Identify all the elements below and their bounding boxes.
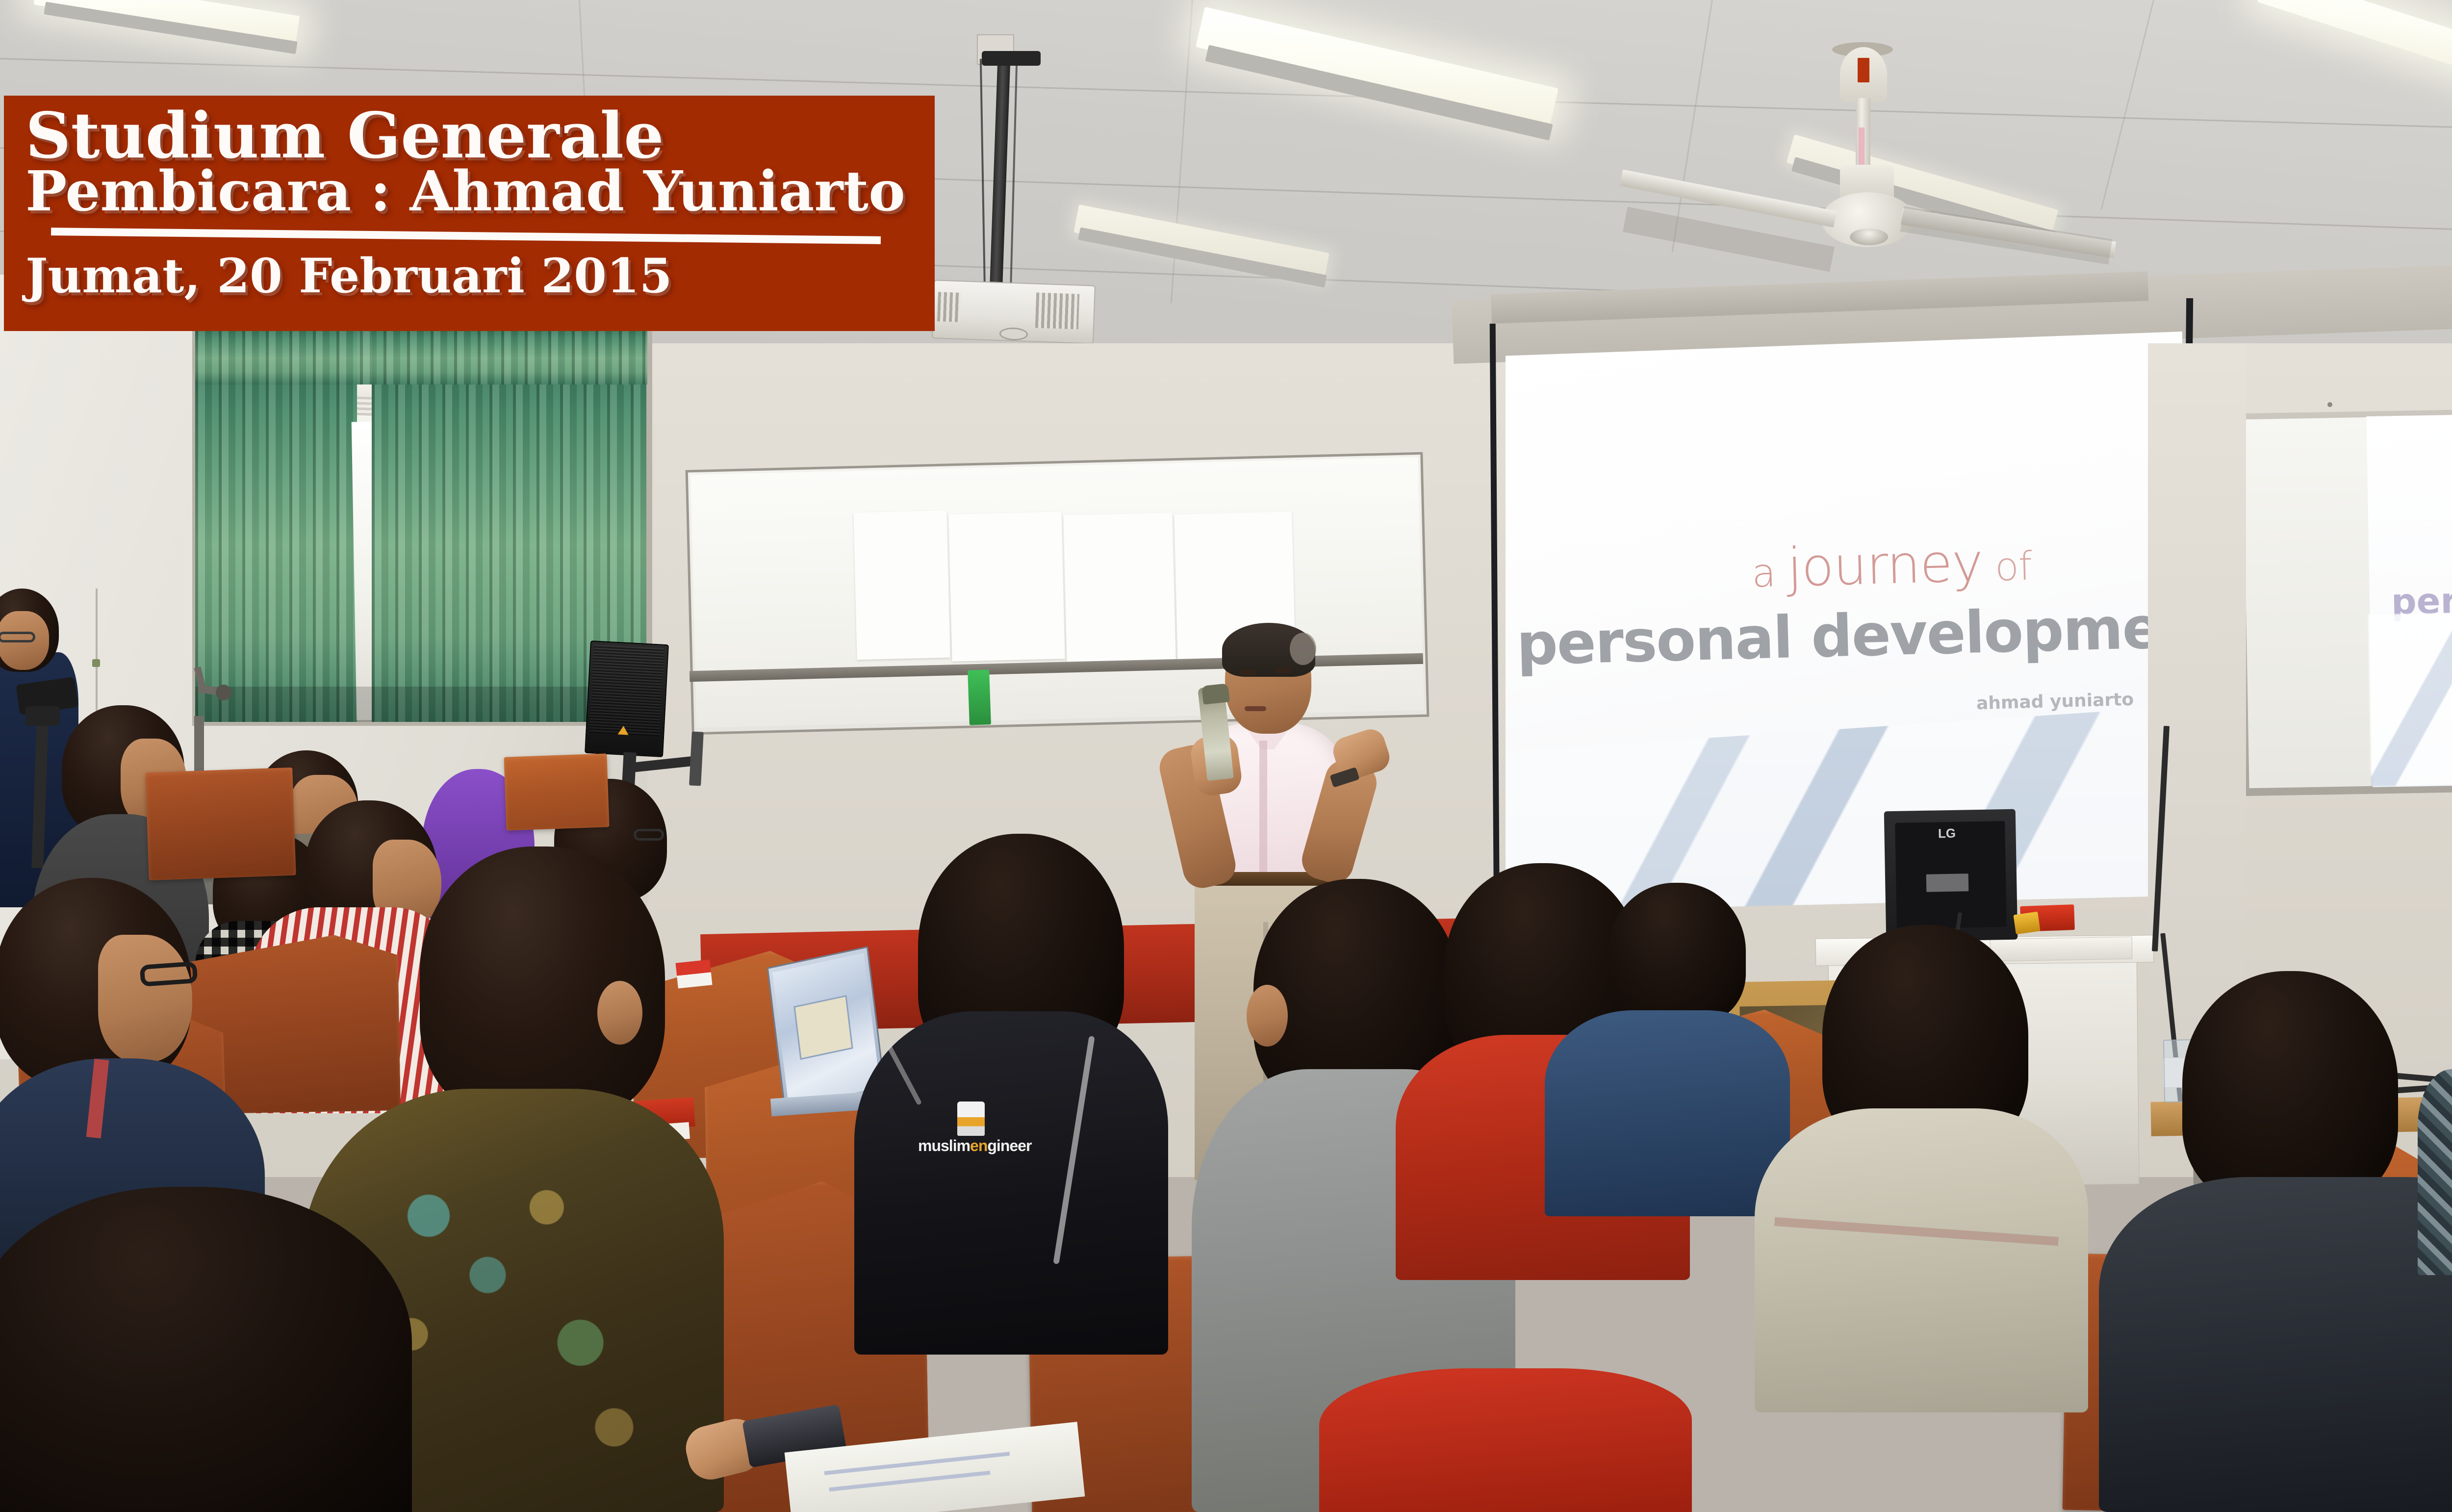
podium-keyboard [1990,936,2133,961]
presenter-mouth [1245,706,1266,711]
tripod-head [26,706,60,726]
slide-headline-line1: a journey of [1751,531,2032,600]
slide-word-journey: journey [1787,532,1984,598]
audience-jacket [854,1011,1168,1355]
audience-body-far-right [2099,1177,2452,1512]
camera-operator-glasses-icon [0,632,35,642]
audience-head-far-right [2182,971,2398,1206]
projector-vent [937,292,961,322]
jacket-logo-icon [957,1102,985,1136]
presenter-eye [1240,670,1256,675]
slide-word-a: a [1751,550,1788,596]
microphone-head [1201,683,1230,704]
audience-glasses-icon [634,829,664,841]
wall-hanging-cable [96,589,98,711]
curtain-shadow [195,687,646,722]
presenter-hair-grey [1290,633,1316,665]
jacket-logo-text: muslimengineer [918,1137,1031,1155]
audience-glasses-icon [140,961,198,987]
audience-body-denim [1545,1010,1790,1216]
banner-speaker: Pembicara : Ahmad Yuniarto [26,164,905,219]
bench-far-left [504,753,609,830]
banner-divider [51,228,881,244]
pa-speaker-grill [589,644,664,736]
audience-face-glasses [98,935,192,1062]
wall-bracket-knob [216,685,231,700]
presenter-eye [1275,668,1292,673]
projector-yoke [982,51,1041,66]
whiteboard-paper [853,511,950,660]
slide-word-of: of [1982,543,2032,590]
whiteboard-marker [968,669,991,725]
event-banner: Studium Generale Pembicara : Ahmad Yunia… [4,96,935,331]
curtain-left [195,330,357,722]
audience-ear-grey-polo [1247,985,1288,1047]
audience-head-front-left [0,1187,412,1512]
audience-body-front-red [1319,1368,1692,1512]
lecture-hall-photo: a journey of personal development ahmad … [0,0,2452,1512]
banner-title: Studium Generale [26,104,664,167]
lg-monitor-label [1926,873,1969,892]
audience-body-beige [1755,1108,2088,1412]
wall-hook [92,659,100,667]
banner-date: Jumat, 20 Februari 2015 [26,253,672,300]
wall-right-panel [2148,343,2246,1079]
curtain-valance [195,326,647,384]
fan-brand-badge [1858,58,1869,82]
pa-speaker-logo-icon [618,725,629,735]
slide-attribution: ahmad yuniarto [1976,690,2134,714]
whiteboard-paper [1063,513,1175,663]
small-flag [675,959,712,988]
laptop-window-ui [793,995,853,1060]
audience-head-denim [1609,883,1746,1025]
bench-back-left [145,768,296,880]
presenter-placket [1259,741,1267,883]
fan-hub-cap [1850,229,1888,245]
wall-nail [2327,402,2332,407]
lg-monitor-logo: LG [1938,826,1956,842]
secondary-screen-photo-band [2368,612,2452,786]
audience-ear-batik [597,981,642,1045]
projector-vent [1035,292,1079,329]
snack-pack-yellow [2013,912,2040,935]
audience-batik-right [2418,1069,2452,1275]
whiteboard-paper [948,512,1065,662]
